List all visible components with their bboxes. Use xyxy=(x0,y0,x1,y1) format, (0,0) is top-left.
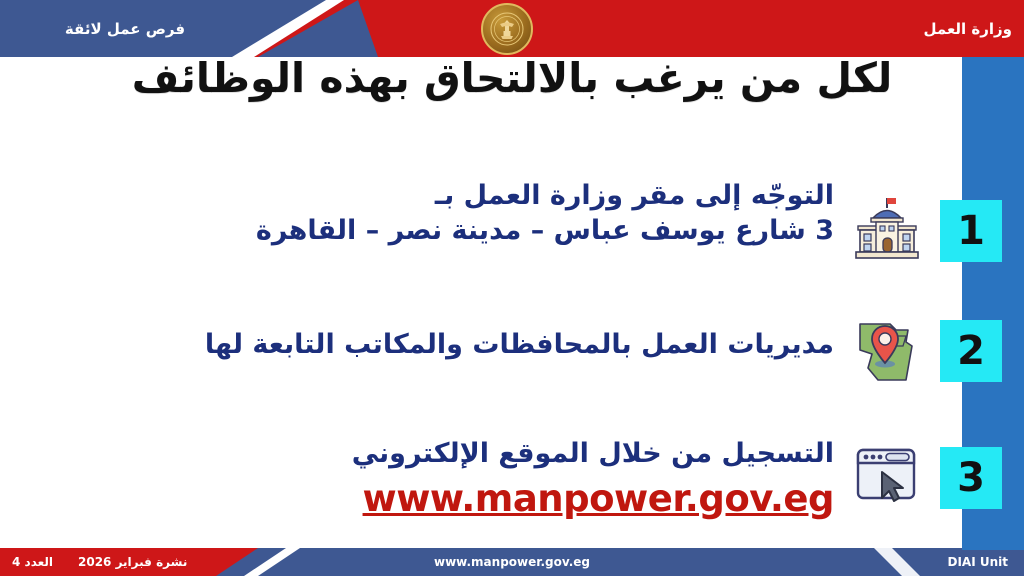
step-3-text: التسجيل من خلال الموقع الإلكتروني www.ma… xyxy=(194,436,834,523)
egypt-map-pin-icon xyxy=(850,312,924,386)
step-badge-3: 3 xyxy=(940,447,1002,509)
egypt-eagle-emblem-icon xyxy=(481,3,533,55)
government-building-icon xyxy=(850,192,924,266)
header-right-label: وزارة العمل xyxy=(924,0,1013,57)
browser-cursor-icon xyxy=(850,438,924,512)
step-badge-1: 1 xyxy=(940,200,1002,262)
step-1-line-1: التوجّه إلى مقر وزارة العمل بـ xyxy=(194,178,834,213)
header-left-badge: فرص عمل لائقة xyxy=(0,0,250,57)
page-title: لكل من يرغب بالالتحاق بهذه الوظائف xyxy=(60,52,964,104)
step-1-text: التوجّه إلى مقر وزارة العمل بـ 3 شارع يو… xyxy=(194,178,834,248)
poster-root: فرص عمل لائقة وزارة العمل لكل من يرغب با… xyxy=(0,0,1024,576)
footer-issue-number: العدد 4 xyxy=(12,548,53,576)
step-2-line-1: مديريات العمل بالمحافظات والمكاتب التابع… xyxy=(194,327,834,362)
website-url-link[interactable]: www.manpower.gov.eg xyxy=(194,475,834,523)
step-1-line-2: 3 شارع يوسف عباس – مدينة نصر – القاهرة xyxy=(194,213,834,248)
footer-unit-label: DIAI Unit xyxy=(948,548,1009,576)
footer-bulletin-date: نشرة فبراير 2026 xyxy=(78,548,187,576)
header-bar: فرص عمل لائقة وزارة العمل xyxy=(0,0,1024,57)
footer-bar: www.manpower.gov.eg العدد 4 نشرة فبراير … xyxy=(0,548,1024,576)
step-2-text: مديريات العمل بالمحافظات والمكاتب التابع… xyxy=(194,327,834,362)
step-badge-2: 2 xyxy=(940,320,1002,382)
step-3-line-1: التسجيل من خلال الموقع الإلكتروني xyxy=(194,436,834,471)
